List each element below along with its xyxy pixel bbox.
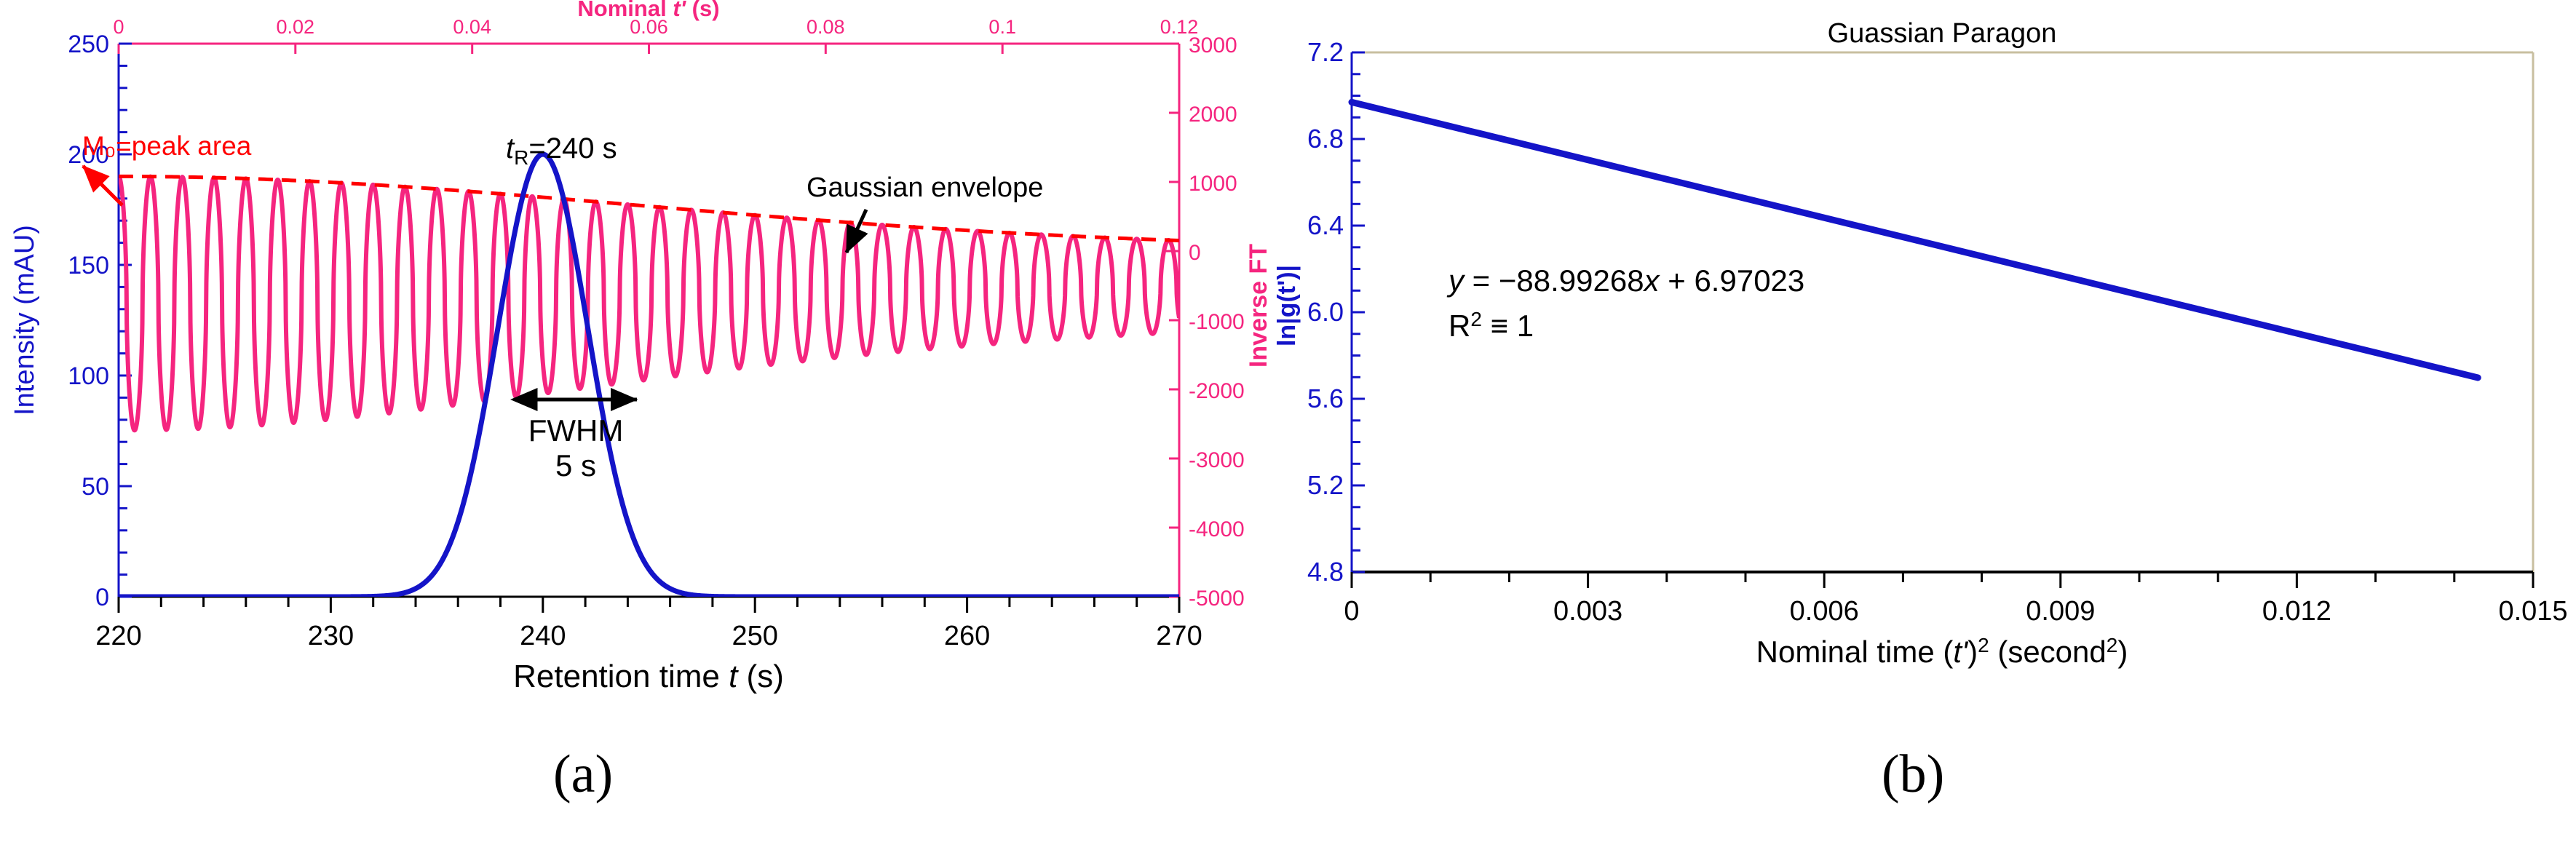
panel-b-x-tick-labels: 0 0.003 0.006 0.009 0.012 0.015 [1344,596,2567,627]
bottom-axis-title-unit: (s) [747,659,784,694]
y-tick-label: 5.6 [1307,384,1344,413]
subfigure-caption-a: (a) [553,744,613,806]
x-axis-title-italic: t' [1953,635,1969,669]
fwhm-label: FWHM [528,413,624,448]
panel-a-data-area [119,154,1179,597]
panel-b-y-tick-labels: 4.8 5.2 5.6 6.0 6.4 6.8 7.2 [1307,37,1344,587]
panel-b-title: Guassian Paragon [1828,18,2057,49]
fit-equation-y: y [1446,263,1466,298]
left-tick-label: 50 [82,473,109,501]
panel-a-chromatogram: 0 0.02 0.04 0.06 0.08 0.1 0.12 Nominal t… [0,0,1303,850]
gaussian-envelope-label: Gaussian envelope [807,172,1043,203]
gaussian-peak-trace [119,154,1179,597]
panel-a-top-axis-title: Nominal t' (s) [577,0,719,21]
retention-time-rest: =240 s [528,132,617,164]
y-tick-label: 6.4 [1307,210,1344,240]
bottom-tick-label: 230 [308,621,354,651]
right-tick-label: -4000 [1189,517,1245,541]
retention-time-subscript: R [514,146,528,169]
retention-time-label: tR=240 s [506,132,617,169]
top-tick-label: 0 [113,16,124,38]
panel-b-svg: Guassian Paragon [1303,0,2576,742]
panel-b-x-axis-title: Nominal time (t')2 (second2) [1756,634,2128,669]
bottom-axis-title-plain: Retention time [513,659,720,694]
x-tick-label: 0.006 [1790,596,1859,627]
r-squared-sup: 2 [1470,308,1482,330]
panel-b-y-ticks [1352,52,1365,572]
panel-a-right-ticks [1166,44,1179,597]
x-tick-label: 0.009 [2026,596,2095,627]
y-tick-label: 6.8 [1307,124,1344,154]
inverse-ft-trace [119,176,1179,430]
subfigure-caption-b: (b) [1882,744,1944,806]
bottom-tick-label: 240 [520,621,566,651]
panel-a-bottom-tick-labels: 220 230 240 250 260 270 [95,621,1202,651]
right-tick-label: -3000 [1189,448,1245,472]
panel-a-right-axis-title-ln-g: ln|g(t')| [1273,265,1301,346]
right-tick-label: -5000 [1189,587,1245,611]
top-tick-label: 0.1 [988,16,1016,38]
x-tick-label: 0.003 [1553,596,1622,627]
panel-a-top-ticks [119,44,1179,54]
y-tick-label: 7.2 [1307,37,1344,67]
panel-a-left-tick-labels: 0 50 100 150 200 250 [68,31,109,611]
right-tick-label: 3000 [1189,33,1237,57]
fit-equation-line1: y = −88.99268x + 6.97023 [1446,263,1804,298]
bottom-tick-label: 250 [732,621,777,651]
r-squared-rest: ≡ 1 [1482,309,1534,343]
fit-equation-rest: = −88.99268 [1464,263,1644,298]
x-axis-title-sup2: 2 [2107,634,2118,656]
top-tick-label: 0.02 [277,16,315,38]
panel-a-right-tick-labels: 3000 2000 1000 0 -1000 -2000 -3000 -4000… [1189,33,1245,611]
panel-b-linear-fit: Guassian Paragon [1303,0,2576,850]
top-axis-title-unit: (s) [692,0,720,21]
x-axis-title-plain-1: Nominal time ( [1756,635,1954,669]
x-tick-label: 0.015 [2498,596,2567,627]
x-axis-title-sup: 2 [1978,634,1989,656]
left-tick-label: 100 [68,362,109,390]
fit-equation-tail: + 6.97023 [1660,263,1805,298]
bottom-tick-label: 220 [95,621,141,651]
right-tick-label: 1000 [1189,172,1237,196]
top-tick-label: 0.04 [453,16,491,38]
fit-r-squared-line: R2 ≡ 1 [1448,308,1534,343]
x-tick-label: 0 [1344,596,1359,627]
top-axis-title-plain: Nominal [577,0,666,21]
y-tick-label: 4.8 [1307,557,1344,587]
bottom-tick-label: 270 [1156,621,1202,651]
panel-a-bottom-ticks [119,597,1179,613]
peak-area-label-text: M₀=peak area [82,131,252,161]
peak-area-arrow [83,166,122,205]
y-tick-label: 5.2 [1307,470,1344,500]
fit-equation-x: x [1643,263,1661,298]
top-tick-label: 0.08 [807,16,845,38]
bottom-tick-label: 260 [944,621,990,651]
x-axis-title-plain-2: (second [1997,635,2106,669]
right-tick-label: -1000 [1189,310,1245,334]
r-squared-base: R [1448,309,1470,343]
panel-a-left-axis-title: Intensity (mAU) [9,225,40,416]
x-tick-label: 0.012 [2262,596,2331,627]
panel-a-svg: 0 0.02 0.04 0.06 0.08 0.1 0.12 Nominal t… [0,0,1303,742]
panel-a-right-axis-title-inverse-ft: Inverse FT [1245,244,1272,368]
left-tick-label: 250 [68,31,109,58]
panel-b-x-ticks [1352,572,2533,588]
right-tick-label: 0 [1189,241,1201,265]
fwhm-value-label: 5 s [555,448,596,482]
two-panel-figure: 0 0.02 0.04 0.06 0.08 0.1 0.12 Nominal t… [0,0,2576,850]
top-axis-title-italic: t' [673,0,686,21]
left-tick-label: 0 [95,584,109,611]
right-tick-label: 2000 [1189,103,1237,127]
y-tick-label: 6.0 [1307,297,1344,327]
left-tick-label: 150 [68,252,109,279]
panel-a-bottom-axis-title: Retention time t (s) [513,659,784,694]
right-tick-label: -2000 [1189,379,1245,403]
peak-area-label: M₀=peak area [82,131,252,161]
